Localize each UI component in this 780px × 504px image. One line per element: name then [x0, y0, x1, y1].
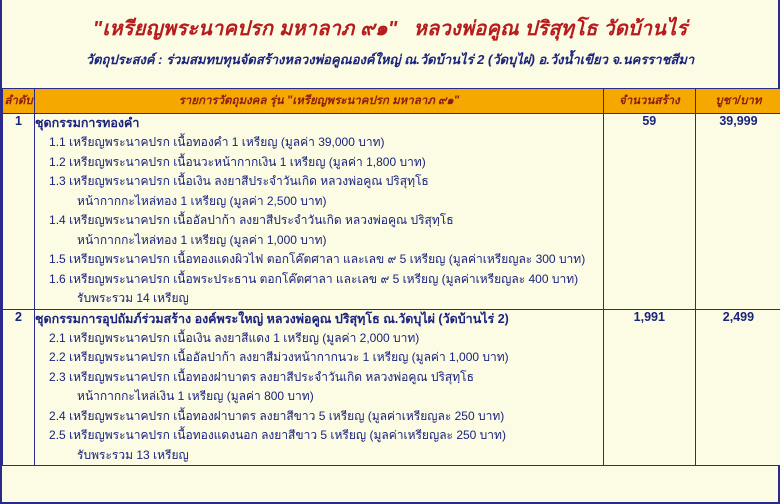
- page-title: "เหรียญพระนาคปรก มหาลาภ ๙๑"หลวงพ่อคูณ ปร…: [12, 16, 768, 42]
- row-number: 2: [3, 309, 35, 466]
- sub-item-continuation: หน้ากากกะไหล่ทอง 1 เหรียญ (มูลค่า 1,000 …: [35, 231, 603, 251]
- row-number: 1: [3, 114, 35, 310]
- row-description: ชุดกรรมการอุปถัมภ์ร่วมสร้าง องค์พระใหญ่ …: [35, 309, 604, 466]
- sub-item: 1.6 เหรียญพระนาคปรก เนื้อพระประธาน ตอกโค…: [35, 270, 603, 290]
- column-header-no: ลำดับ: [3, 89, 35, 114]
- row-quantity: 59: [603, 114, 695, 310]
- sub-item: 1.5 เหรียญพระนาคปรก เนื้อทองแดงผิวไฟ ตอก…: [35, 250, 603, 270]
- sub-item: 2.1 เหรียญพระนาคปรก เนื้อเงิน ลงยาสีแดง …: [35, 329, 603, 349]
- amulet-price-list-page: "เหรียญพระนาคปรก มหาลาภ ๙๑"หลวงพ่อคูณ ปร…: [0, 0, 780, 504]
- sub-item: 2.3 เหรียญพระนาคปรก เนื้อทองฝาบาตร ลงยาส…: [35, 368, 603, 388]
- sub-item: 1.3 เหรียญพระนาคปรก เนื้อเงิน ลงยาสีประจ…: [35, 172, 603, 192]
- row-price: 2,499: [695, 309, 780, 466]
- row-summary: รับพระรวม 14 เหรียญ: [35, 289, 603, 309]
- sub-item: 2.4 เหรียญพระนาคปรก เนื้อทองฝาบาตร ลงยาส…: [35, 407, 603, 427]
- table-header: ลำดับ รายการวัตถุมงคล รุ่น "เหรียญพระนาค…: [3, 89, 780, 114]
- row-description: ชุดกรรมการทองคำ1.1 เหรียญพระนาคปรก เนื้อ…: [35, 114, 604, 310]
- group-title: ชุดกรรมการทองคำ: [35, 114, 603, 133]
- table-row: 2ชุดกรรมการอุปถัมภ์ร่วมสร้าง องค์พระใหญ่…: [3, 309, 780, 466]
- row-quantity: 1,991: [603, 309, 695, 466]
- column-header-price: บูชา/บาท: [695, 89, 780, 114]
- table-row: 1ชุดกรรมการทองคำ1.1 เหรียญพระนาคปรก เนื้…: [3, 114, 780, 310]
- sub-item: 1.1 เหรียญพระนาคปรก เนื้อทองคำ 1 เหรียญ …: [35, 133, 603, 153]
- row-price: 39,999: [695, 114, 780, 310]
- sub-item: 2.2 เหรียญพระนาคปรก เนื้ออัลปาก้า ลงยาสี…: [35, 348, 603, 368]
- table-header-row: ลำดับ รายการวัตถุมงคล รุ่น "เหรียญพระนาค…: [3, 89, 780, 114]
- sub-item: 1.4 เหรียญพระนาคปรก เนื้ออัลปาก้า ลงยาสี…: [35, 211, 603, 231]
- amulet-table: ลำดับ รายการวัตถุมงคล รุ่น "เหรียญพระนาค…: [2, 88, 780, 466]
- sub-item-continuation: หน้ากากกะไหล่เงิน 1 เหรียญ (มูลค่า 800 บ…: [35, 387, 603, 407]
- sub-item-continuation: หน้ากากกะไหล่ทอง 1 เหรียญ (มูลค่า 2,500 …: [35, 192, 603, 212]
- group-title: ชุดกรรมการอุปถัมภ์ร่วมสร้าง องค์พระใหญ่ …: [35, 310, 603, 329]
- sub-item: 1.2 เหรียญพระนาคปรก เนื้อนวะหน้ากากเงิน …: [35, 153, 603, 173]
- column-header-quantity: จำนวนสร้าง: [603, 89, 695, 114]
- masthead: "เหรียญพระนาคปรก มหาลาภ ๙๑"หลวงพ่อคูณ ปร…: [2, 0, 778, 69]
- row-summary: รับพระรวม 13 เหรียญ: [35, 446, 603, 466]
- column-header-description: รายการวัตถุมงคล รุ่น "เหรียญพระนาคปรก มห…: [35, 89, 604, 114]
- page-subtitle: วัตถุประสงค์ : ร่วมสมทบทุนจัดสร้างหลวงพ่…: [12, 51, 768, 69]
- page-title-rest: หลวงพ่อคูณ ปริสุทฺโธ วัดบ้านไร่: [414, 18, 688, 40]
- table-body: 1ชุดกรรมการทองคำ1.1 เหรียญพระนาคปรก เนื้…: [3, 114, 780, 466]
- sub-item: 2.5 เหรียญพระนาคปรก เนื้อทองแดงนอก ลงยาส…: [35, 426, 603, 446]
- page-title-quoted: "เหรียญพระนาคปรก มหาลาภ ๙๑": [93, 18, 398, 40]
